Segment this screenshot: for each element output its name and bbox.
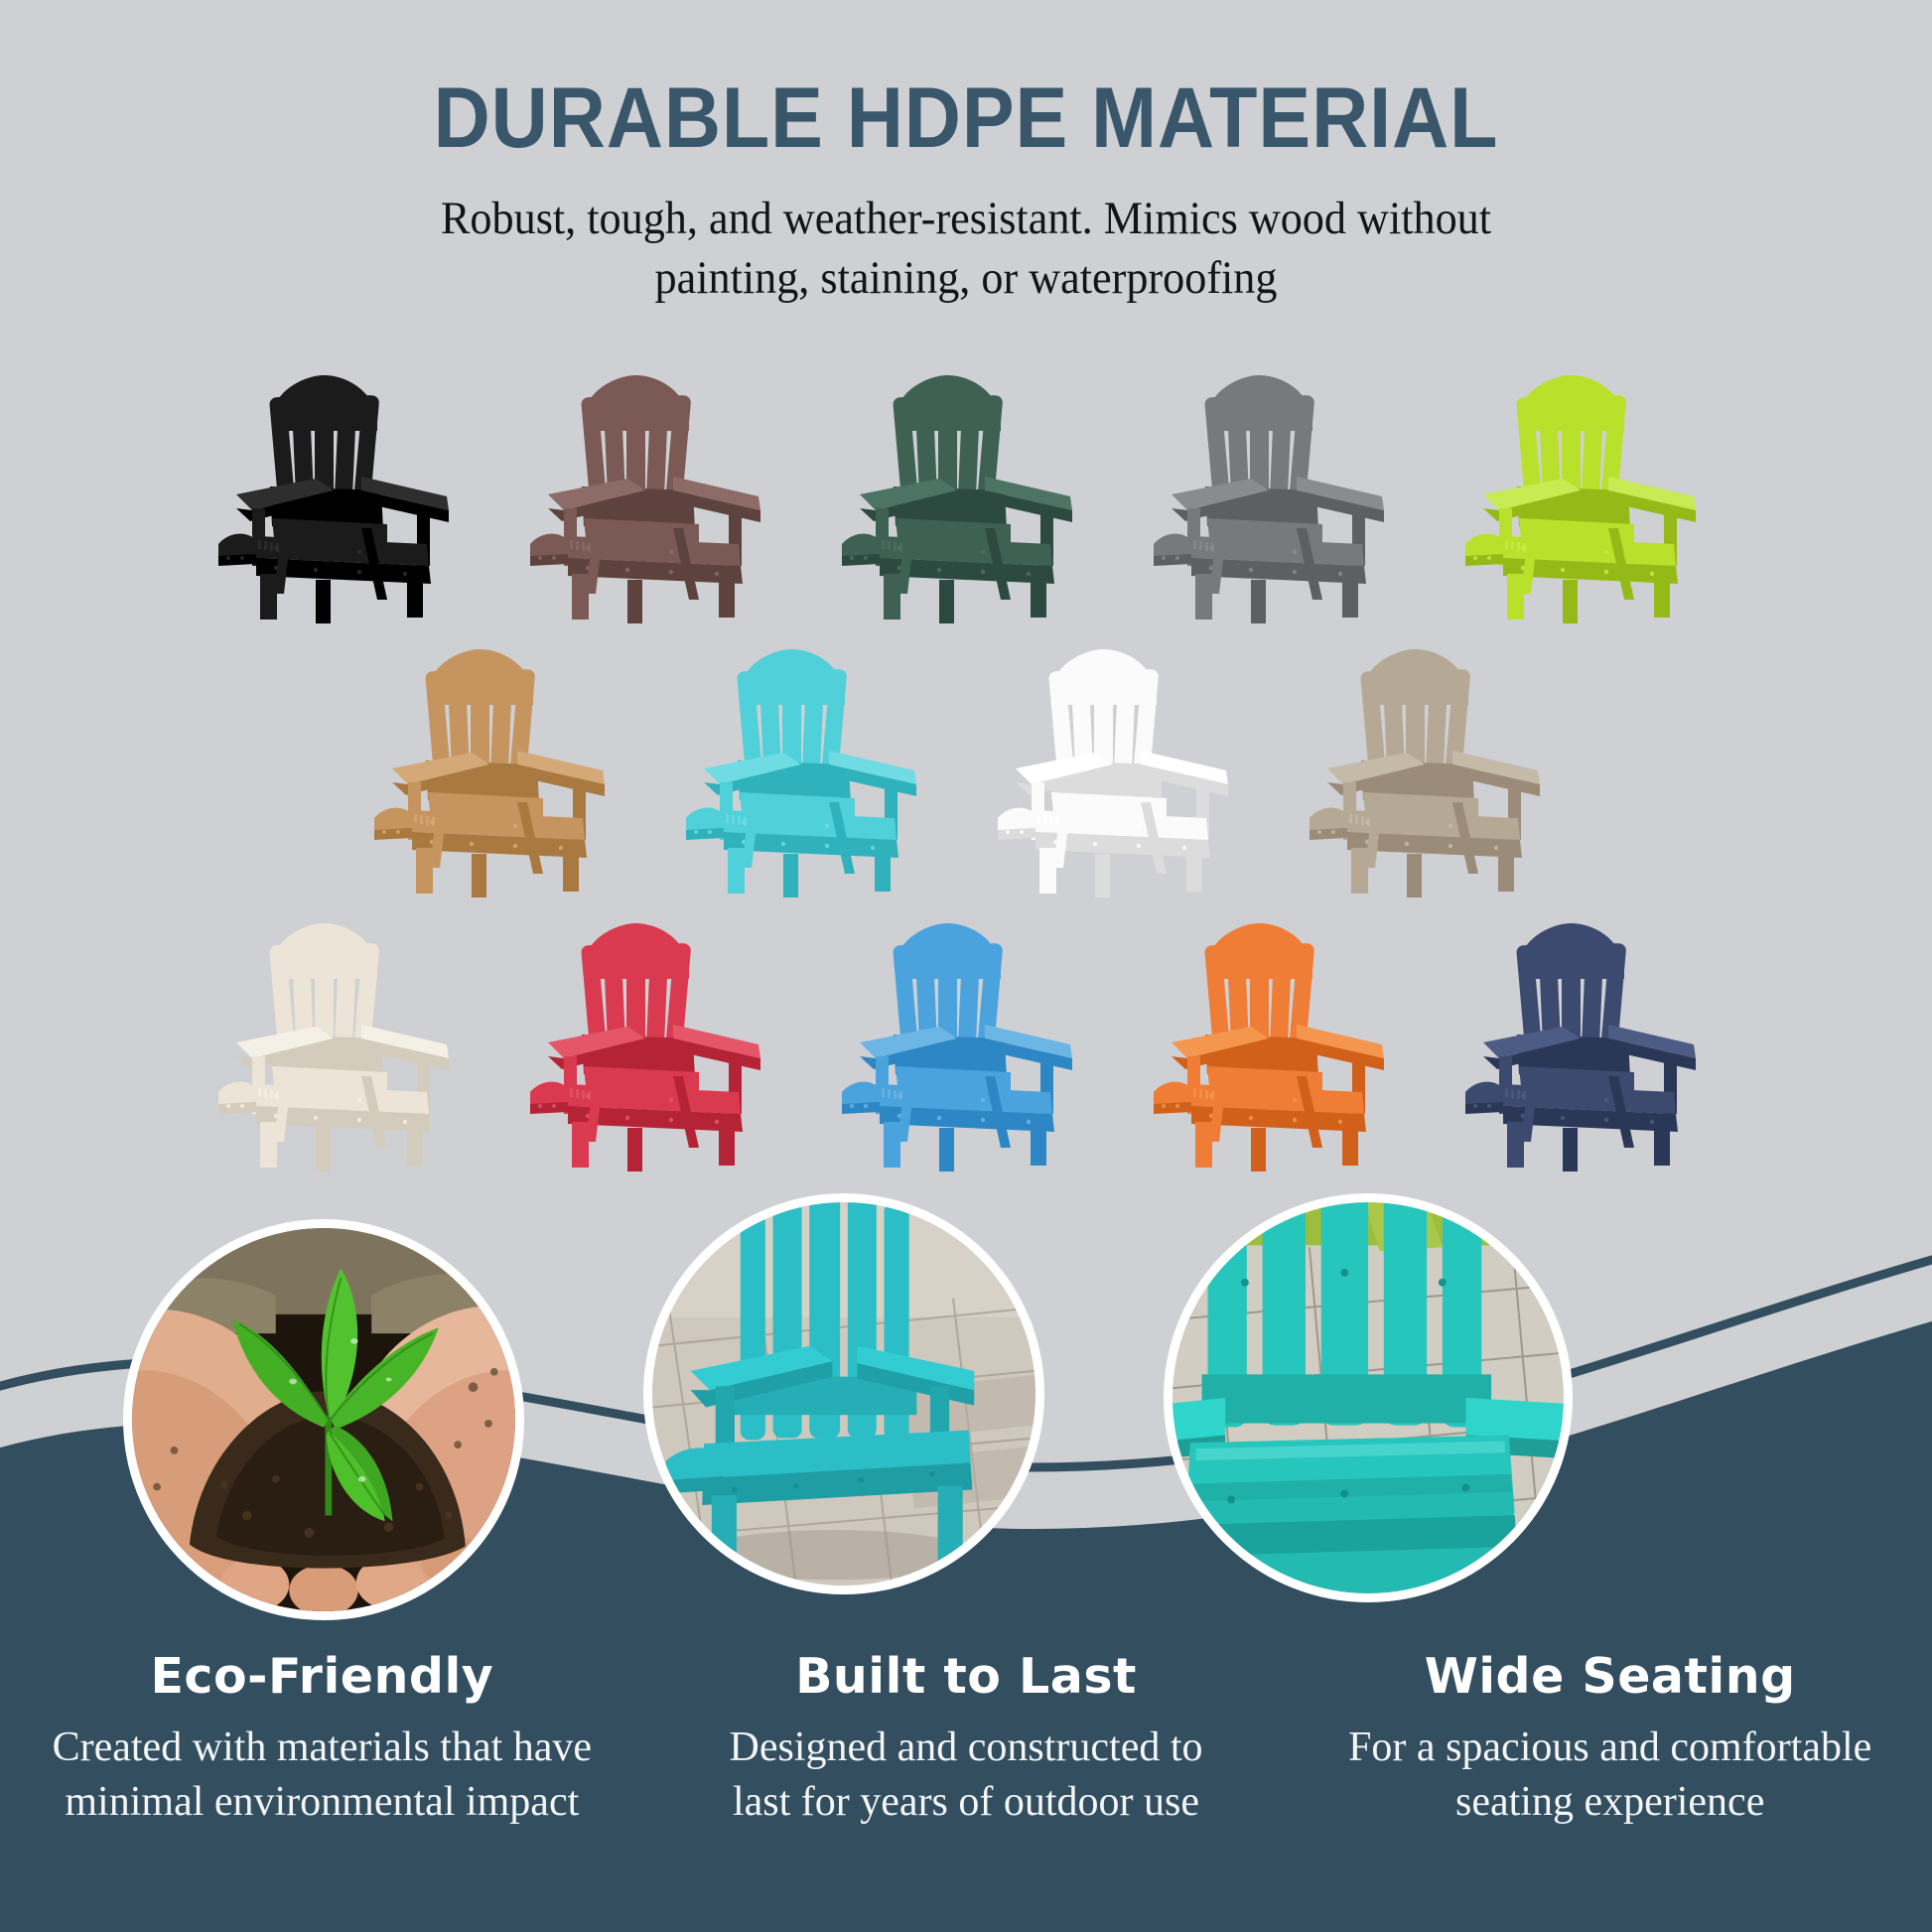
eco-photo bbox=[132, 1228, 515, 1611]
feature-description: For a spacious and comfortable seating e… bbox=[1313, 1721, 1906, 1829]
chair-icon bbox=[1148, 917, 1408, 1173]
chair-illustration bbox=[368, 643, 628, 899]
photo-circle-durable bbox=[643, 1193, 1044, 1594]
chair-illustration bbox=[524, 369, 784, 625]
chair-illustration bbox=[680, 643, 940, 899]
chair-swatch-turquoise[interactable] bbox=[680, 643, 940, 899]
chair-icon bbox=[524, 369, 784, 625]
page-title: DURABLE HDPE MATERIAL bbox=[77, 73, 1855, 163]
subtitle-line-2: painting, staining, or waterproofing bbox=[359, 248, 1573, 308]
chair-icon bbox=[1148, 369, 1408, 625]
feature-description: Designed and constructed to last for yea… bbox=[670, 1721, 1263, 1829]
photo-circle-eco bbox=[123, 1219, 524, 1620]
chair-illustration bbox=[836, 917, 1096, 1173]
chair-icon bbox=[524, 917, 784, 1173]
infographic-canvas: DURABLE HDPE MATERIAL Robust, tough, and… bbox=[0, 0, 1932, 1932]
photo-circle-seating bbox=[1164, 1193, 1573, 1602]
chair-row-1 bbox=[0, 369, 1932, 625]
feature-built-to-last: Built to Last Designed and constructed t… bbox=[644, 1648, 1289, 1829]
chair-illustration bbox=[1459, 917, 1720, 1173]
feature-photo-row bbox=[0, 1219, 1932, 1636]
chair-swatch-red[interactable] bbox=[524, 917, 784, 1173]
feature-title: Wide Seating bbox=[1313, 1648, 1906, 1705]
chair-icon bbox=[1459, 917, 1720, 1173]
chair-swatch-teak[interactable] bbox=[368, 643, 628, 899]
feature-title: Built to Last bbox=[670, 1648, 1263, 1705]
chair-swatch-gray[interactable] bbox=[1148, 369, 1408, 625]
chair-swatch-orange[interactable] bbox=[1148, 917, 1408, 1173]
chair-illustration bbox=[992, 643, 1252, 899]
feature-desc-line-2: seating experience bbox=[1455, 1779, 1764, 1825]
chair-icon bbox=[680, 643, 940, 899]
chair-swatch-ivory[interactable] bbox=[212, 917, 473, 1173]
chair-illustration bbox=[1148, 369, 1408, 625]
chair-row-3 bbox=[0, 917, 1932, 1173]
feature-eco-friendly: Eco-Friendly Created with materials that… bbox=[0, 1648, 644, 1829]
chair-icon bbox=[368, 643, 628, 899]
chair-icon bbox=[836, 369, 1096, 625]
chair-icon bbox=[212, 917, 473, 1173]
chair-swatch-taupe[interactable] bbox=[1304, 643, 1564, 899]
feature-desc-line-1: Designed and constructed to bbox=[729, 1725, 1202, 1770]
chair-swatch-dark-green[interactable] bbox=[836, 369, 1096, 625]
chair-row-2 bbox=[0, 643, 1932, 899]
chair-icon bbox=[836, 917, 1096, 1173]
subtitle-line-1: Robust, tough, and weather-resistant. Mi… bbox=[359, 189, 1573, 248]
chair-swatch-black[interactable] bbox=[212, 369, 473, 625]
chair-color-grid bbox=[0, 369, 1932, 1173]
chair-swatch-sky-blue[interactable] bbox=[836, 917, 1096, 1173]
feature-desc-line-1: For a spacious and comfortable bbox=[1348, 1725, 1871, 1770]
durable-photo bbox=[652, 1202, 1035, 1586]
chair-icon bbox=[1459, 369, 1720, 625]
header-block: DURABLE HDPE MATERIAL Robust, tough, and… bbox=[0, 73, 1932, 309]
chair-illustration bbox=[836, 369, 1096, 625]
chair-illustration bbox=[524, 917, 784, 1173]
feature-desc-line-2: minimal environmental impact bbox=[65, 1779, 579, 1825]
chair-icon bbox=[212, 369, 473, 625]
chair-swatch-navy-blue[interactable] bbox=[1459, 917, 1720, 1173]
chair-icon bbox=[1304, 643, 1564, 899]
chair-swatch-brown[interactable] bbox=[524, 369, 784, 625]
seating-photo bbox=[1173, 1202, 1564, 1593]
feature-wide-seating: Wide Seating For a spacious and comforta… bbox=[1288, 1648, 1932, 1829]
chair-illustration bbox=[1304, 643, 1564, 899]
chair-icon bbox=[992, 643, 1252, 899]
feature-desc-line-2: last for years of outdoor use bbox=[733, 1779, 1199, 1825]
feature-description: Created with materials that have minimal… bbox=[26, 1721, 619, 1829]
chair-illustration bbox=[212, 369, 473, 625]
chair-illustration bbox=[212, 917, 473, 1173]
chair-illustration bbox=[1459, 369, 1720, 625]
page-subtitle: Robust, tough, and weather-resistant. Mi… bbox=[359, 189, 1573, 308]
chair-swatch-lime-green[interactable] bbox=[1459, 369, 1720, 625]
feature-text-row: Eco-Friendly Created with materials that… bbox=[0, 1648, 1932, 1829]
chair-illustration bbox=[1148, 917, 1408, 1173]
chair-swatch-white[interactable] bbox=[992, 643, 1252, 899]
feature-desc-line-1: Created with materials that have bbox=[53, 1725, 592, 1770]
feature-title: Eco-Friendly bbox=[26, 1648, 619, 1705]
